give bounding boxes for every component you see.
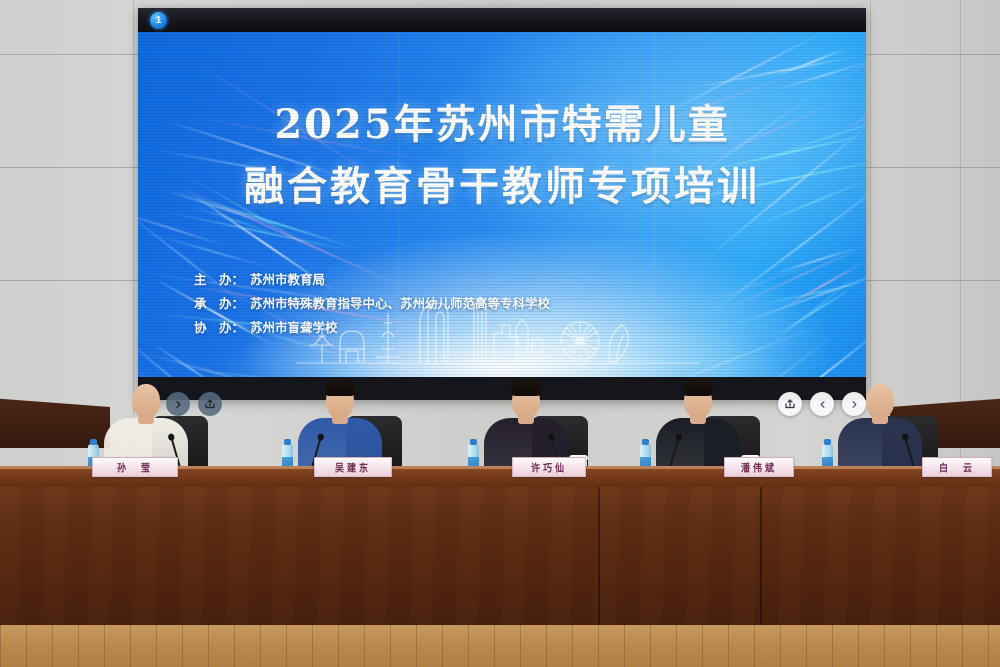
nameplate-text: 孙 莹	[117, 460, 153, 475]
nameplate: 孙 莹	[92, 457, 178, 477]
suzhou-skyline-icon	[288, 293, 708, 371]
nameplate: 潘伟斌	[724, 457, 794, 477]
floor-plank	[806, 625, 807, 667]
nameplate: 许巧仙	[512, 457, 586, 477]
nameplate-text: 白 云	[939, 460, 975, 475]
floor-plank	[780, 625, 781, 667]
floor-plank	[598, 625, 599, 667]
floor-plank	[728, 625, 729, 667]
floor-plank	[910, 625, 911, 667]
floor-plank	[468, 625, 469, 667]
organizer-role: 承 办：	[194, 292, 250, 316]
floor-plank	[624, 625, 625, 667]
organizer-name: 苏州市教育局	[250, 273, 325, 287]
nameplate: 吴建东	[314, 457, 392, 477]
conference-table-front	[0, 487, 1000, 625]
floor-plank	[546, 625, 547, 667]
share-button-right[interactable]	[778, 392, 802, 416]
floor-plank	[338, 625, 339, 667]
floor-plank	[650, 625, 651, 667]
floor-plank	[234, 625, 235, 667]
floor-plank	[884, 625, 885, 667]
floor-plank	[936, 625, 937, 667]
floor-plank	[962, 625, 963, 667]
notification-badge: 1	[150, 12, 167, 29]
floor-plank	[494, 625, 495, 667]
title-line-1: 2025年苏州市特需儿童	[138, 94, 866, 156]
nameplate: 白 云	[922, 457, 992, 477]
organizer-role: 主 办：	[194, 268, 250, 292]
panelist-hair	[325, 378, 355, 396]
floor-plank	[0, 625, 1, 667]
floor-plank	[208, 625, 209, 667]
panelist-head	[866, 384, 894, 418]
panelist-head	[132, 384, 160, 418]
stage-floor	[0, 625, 1000, 667]
floor-plank	[130, 625, 131, 667]
floor-plank	[286, 625, 287, 667]
floor-plank	[858, 625, 859, 667]
floor-plank	[676, 625, 677, 667]
floor-plank	[156, 625, 157, 667]
presentation-title: 2025年苏州市特需儿童 融合教育骨干教师专项培训	[138, 94, 866, 218]
screen-top-bar: 1	[138, 8, 866, 32]
screen-content: 2025年苏州市特需儿童 融合教育骨干教师专项培训 主 办：苏州市教育局承 办：…	[138, 32, 866, 377]
floor-plank	[520, 625, 521, 667]
floor-plank	[416, 625, 417, 667]
floor-plank	[390, 625, 391, 667]
floor-plank	[52, 625, 53, 667]
floor-plank	[260, 625, 261, 667]
floor-plank	[312, 625, 313, 667]
panelist-hair	[511, 378, 541, 396]
nameplate-text: 吴建东	[335, 460, 371, 475]
conference-scene: 1 2025年苏州市特需儿童 融合教育骨干教师专项培训 主 办：苏州市教育局承 …	[0, 0, 1000, 667]
organizer-line-1: 主 办：苏州市教育局	[194, 268, 550, 292]
floor-plank	[78, 625, 79, 667]
organizer-role: 协 办：	[194, 316, 250, 340]
panelist-hair	[683, 378, 713, 396]
floor-plank	[182, 625, 183, 667]
nameplate-text: 潘伟斌	[741, 460, 777, 475]
floor-plank	[754, 625, 755, 667]
floor-plank	[26, 625, 27, 667]
title-line-2: 融合教育骨干教师专项培训	[138, 156, 866, 218]
floor-plank	[832, 625, 833, 667]
floor-plank	[572, 625, 573, 667]
floor-plank	[442, 625, 443, 667]
floor-plank	[988, 625, 989, 667]
nameplate-text: 许巧仙	[531, 460, 567, 475]
floor-plank	[702, 625, 703, 667]
floor-plank	[364, 625, 365, 667]
floor-plank	[104, 625, 105, 667]
led-display-screen: 1 2025年苏州市特需儿童 融合教育骨干教师专项培训 主 办：苏州市教育局承 …	[138, 8, 866, 400]
